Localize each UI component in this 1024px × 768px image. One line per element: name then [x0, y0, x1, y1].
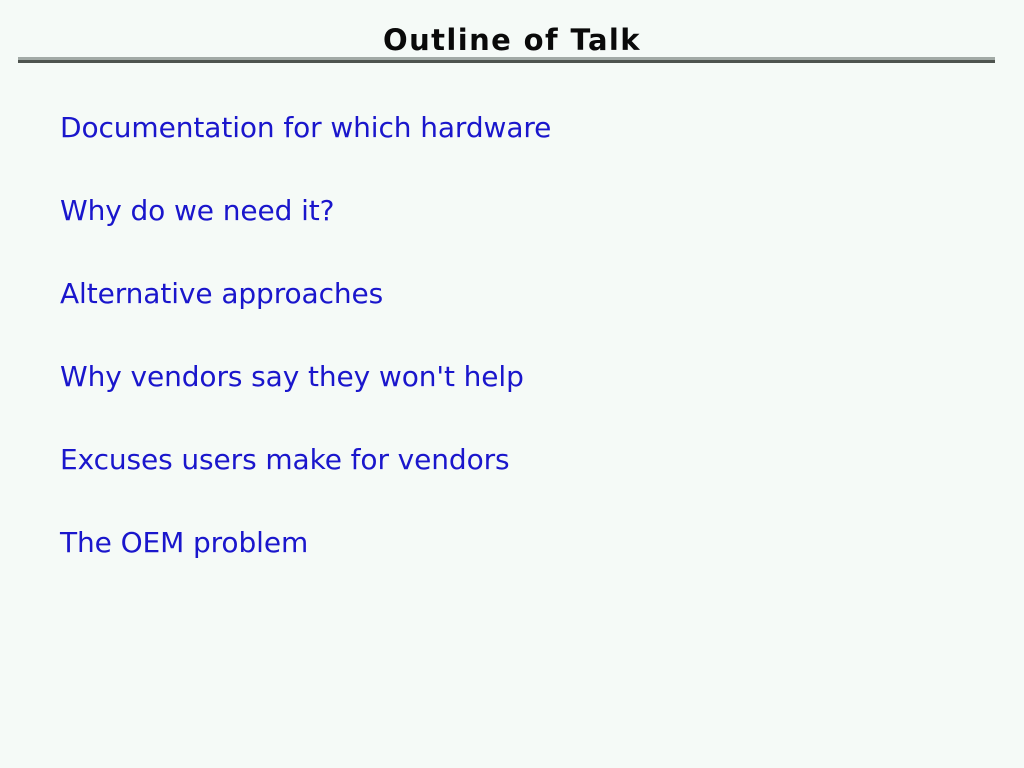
list-item: Documentation for which hardware: [60, 108, 980, 191]
rule-shadow-band: [18, 60, 995, 63]
slide: Outline of Talk Documentation for which …: [0, 0, 1024, 768]
list-item: Excuses users make for vendors: [60, 440, 980, 523]
page-title: Outline of Talk: [0, 24, 1024, 57]
list-item: The OEM problem: [60, 523, 980, 606]
list-item: Alternative approaches: [60, 274, 980, 357]
list-item: Why do we need it?: [60, 191, 980, 274]
list-item: Why vendors say they won't help: [60, 357, 980, 440]
title-separator-rule: [18, 57, 995, 63]
outline-bullet-list: Documentation for which hardware Why do …: [60, 108, 980, 606]
